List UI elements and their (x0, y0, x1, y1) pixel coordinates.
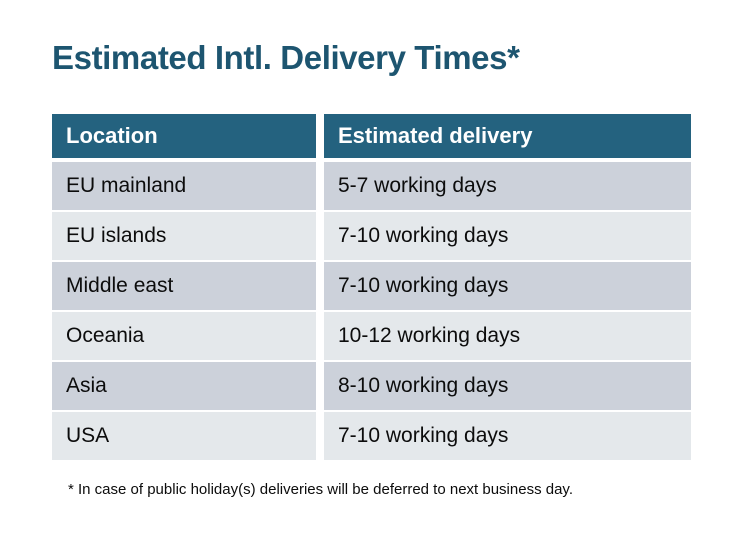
cell-location: Middle east (52, 262, 316, 310)
cell-estimated-delivery: 8-10 working days (324, 362, 691, 410)
cell-location: Oceania (52, 312, 316, 360)
table-row: EU mainland 5-7 working days (52, 162, 691, 210)
delivery-times-panel: Estimated Intl. Delivery Times* Location… (0, 0, 745, 536)
cell-estimated-delivery: 7-10 working days (324, 262, 691, 310)
cell-location: EU mainland (52, 162, 316, 210)
cell-estimated-delivery: 7-10 working days (324, 412, 691, 460)
table-row: Oceania 10-12 working days (52, 312, 691, 360)
column-header-location: Location (52, 114, 316, 158)
table-row: USA 7-10 working days (52, 412, 691, 460)
table-header-row: Location Estimated delivery (52, 114, 691, 158)
cell-location: USA (52, 412, 316, 460)
cell-estimated-delivery: 10-12 working days (324, 312, 691, 360)
page-title: Estimated Intl. Delivery Times* (52, 38, 520, 78)
table-row: Asia 8-10 working days (52, 362, 691, 410)
cell-estimated-delivery: 5-7 working days (324, 162, 691, 210)
table-row: Middle east 7-10 working days (52, 262, 691, 310)
table-row: EU islands 7-10 working days (52, 212, 691, 260)
footnote-text: * In case of public holiday(s) deliverie… (68, 480, 573, 500)
delivery-times-table: Location Estimated delivery EU mainland … (52, 114, 691, 462)
cell-location: EU islands (52, 212, 316, 260)
column-header-estimated-delivery: Estimated delivery (324, 114, 691, 158)
cell-estimated-delivery: 7-10 working days (324, 212, 691, 260)
cell-location: Asia (52, 362, 316, 410)
